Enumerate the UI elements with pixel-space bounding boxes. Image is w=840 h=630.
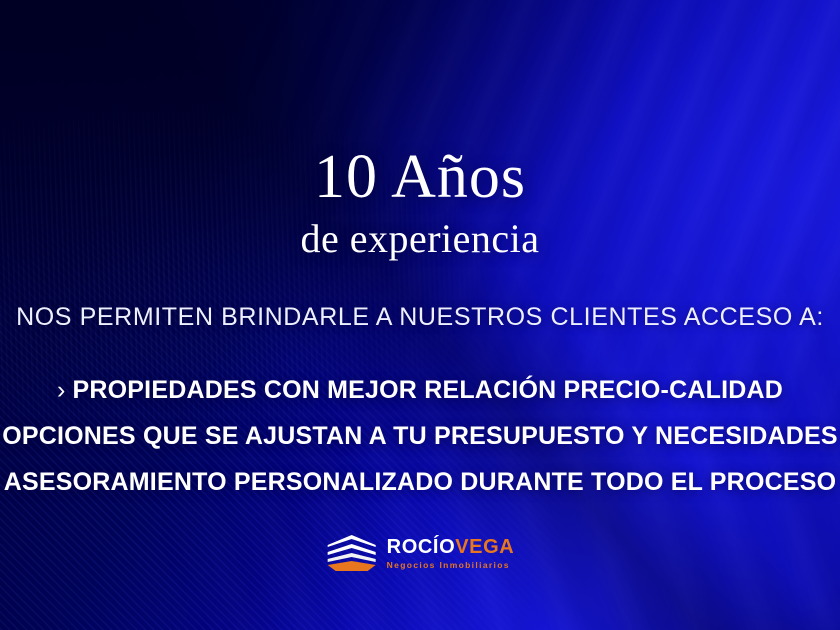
lead-statement: NOS PERMITEN BRINDARLE A NUESTROS CLIENT…: [0, 303, 840, 332]
promo-slide: 10 Años de experiencia NOS PERMITEN BRIN…: [0, 0, 840, 630]
headline-main: 10 Años: [0, 146, 840, 208]
brand-name-second: VEGA: [455, 536, 514, 558]
brand-logo: ROCÍOVEGA Negocios Inmobiliarios: [326, 531, 515, 575]
brand-tagline: Negocios Inmobiliarios: [387, 560, 515, 570]
headline-subtitle: de experiencia: [0, 216, 840, 262]
list-item: OPCIONES QUE SE AJUSTAN A TU PRESUPUESTO…: [0, 424, 840, 449]
list-item: ASESORAMIENTO PERSONALIZADO DURANTE TODO…: [0, 470, 840, 495]
list-item: ›PROPIEDADES CON MEJOR RELACIÓN PRECIO-C…: [0, 378, 840, 403]
list-item-label: PROPIEDADES CON MEJOR RELACIÓN PRECIO-CA…: [73, 376, 783, 404]
slide-content: 10 Años de experiencia NOS PERMITEN BRIN…: [0, 0, 840, 630]
brand-name-first: ROCÍO: [387, 536, 456, 558]
chevron-right-icon: ›: [57, 376, 66, 404]
benefit-list: ›PROPIEDADES CON MEJOR RELACIÓN PRECIO-C…: [0, 378, 840, 516]
list-item-label: ASESORAMIENTO PERSONALIZADO DURANTE TODO…: [4, 468, 837, 496]
headline: 10 Años de experiencia: [0, 146, 840, 262]
brand-wordmark: ROCÍOVEGA Negocios Inmobiliarios: [387, 537, 515, 570]
stacked-roof-icon: [326, 531, 378, 575]
brand-name: ROCÍOVEGA: [387, 537, 515, 557]
list-item-label: OPCIONES QUE SE AJUSTAN A TU PRESUPUESTO…: [2, 422, 838, 450]
